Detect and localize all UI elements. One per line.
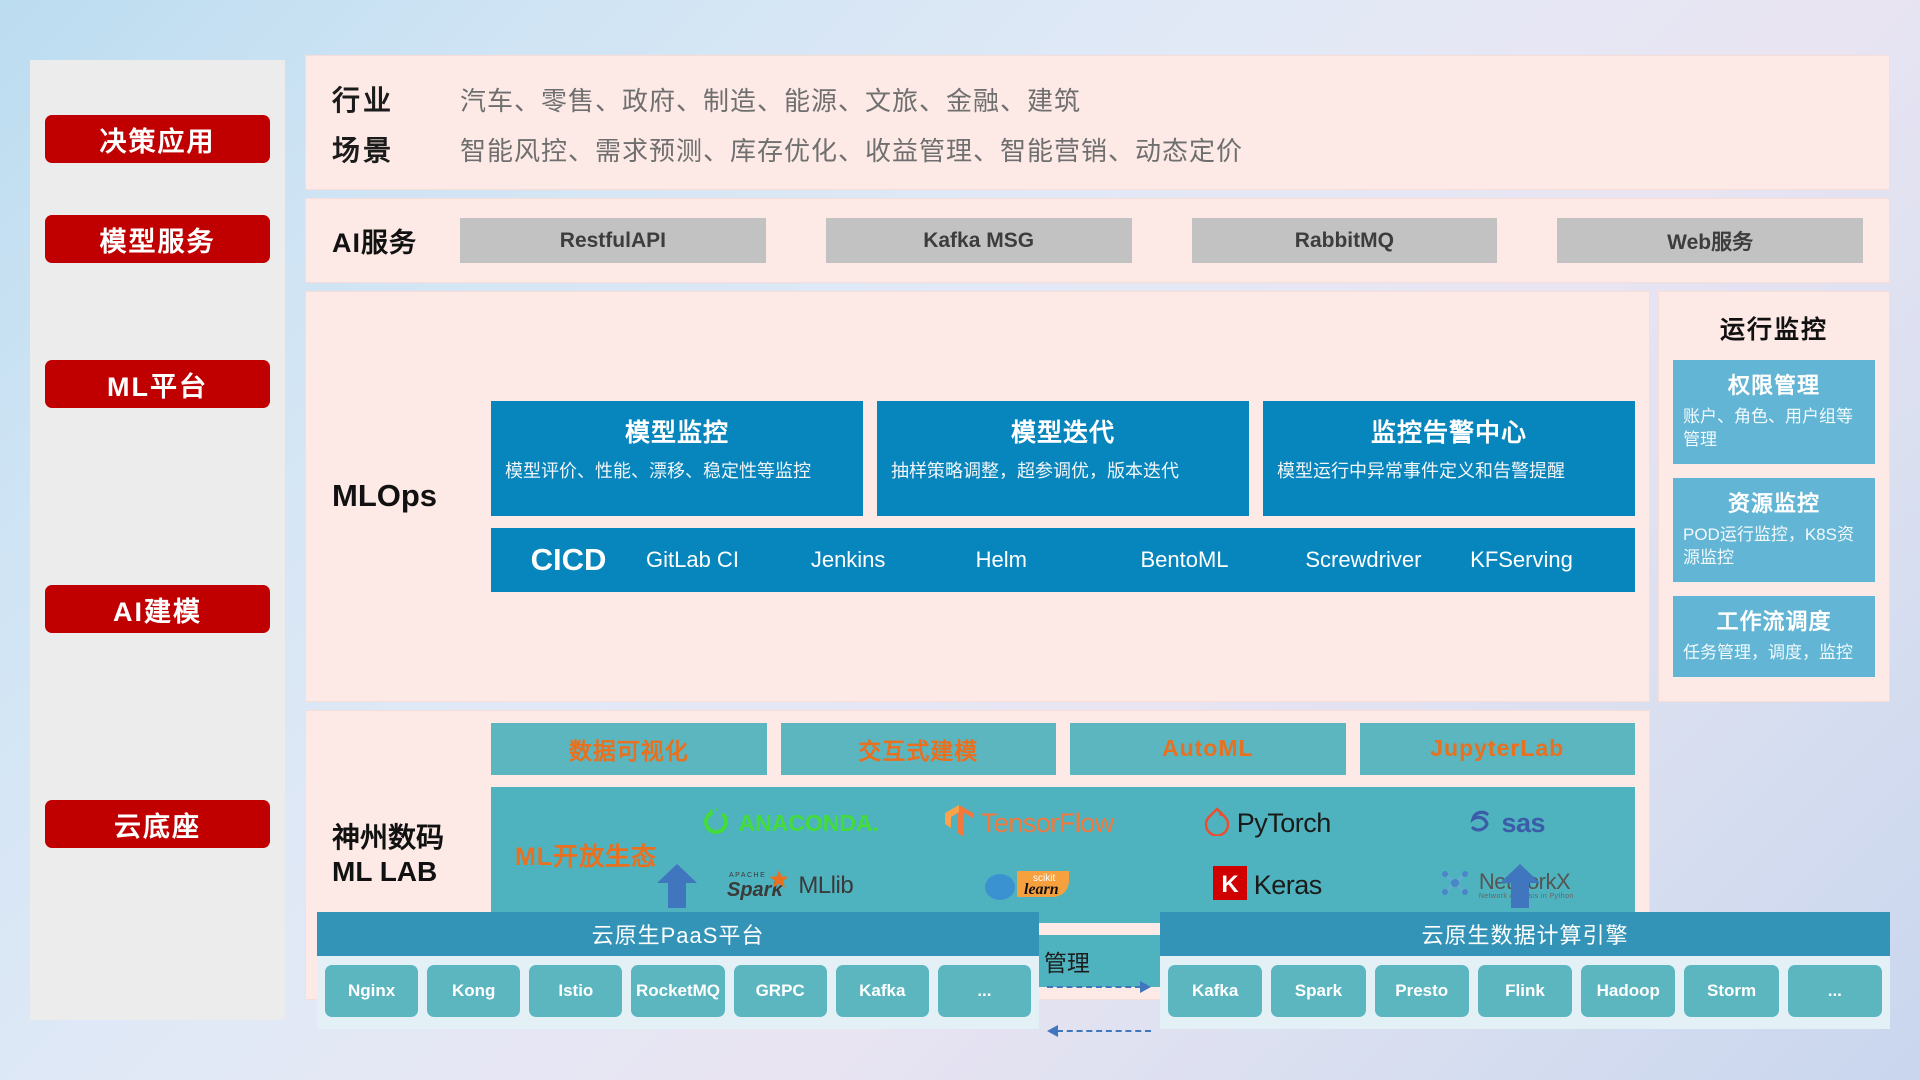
cloud-chip-nginx[interactable]: Nginx — [325, 965, 418, 1017]
ml-lab-tool-automl[interactable]: AutoML — [1070, 723, 1346, 775]
cicd-item-list: GitLab CI Jenkins Helm BentoML Screwdriv… — [646, 547, 1635, 572]
pytorch-icon — [1204, 806, 1230, 841]
logo-anaconda: ANACONDA. — [701, 806, 879, 841]
ml-lab-tool-jupyterlab[interactable]: JupyterLab — [1360, 723, 1636, 775]
cloud-chip-istio[interactable]: Istio — [529, 965, 622, 1017]
ml-open-ecosystem-label: ML开放生态 — [501, 837, 671, 873]
monitor-card-resource[interactable]: 资源监控 POD运行监控，K8S资源监控 — [1673, 478, 1875, 582]
cloud-chip-kafka[interactable]: Kafka — [836, 965, 929, 1017]
logo-tensorflow-text: TensorFlow — [981, 808, 1114, 839]
mlops-label: MLOps — [306, 478, 491, 514]
arrow-up-engine-icon — [1500, 864, 1540, 908]
engine-chip-more[interactable]: ... — [1788, 965, 1882, 1017]
tensorflow-icon — [944, 804, 974, 843]
dashed-arrow-right-icon — [1047, 986, 1151, 988]
scenario-row: 场景 智能风控、需求预测、库存优化、收益管理、智能营销、动态定价 — [332, 124, 1889, 174]
engine-chip-flink[interactable]: Flink — [1478, 965, 1572, 1017]
cloud-paas-group: 云原生PaaS平台 Nginx Kong Istio RocketMQ GRPC… — [317, 912, 1039, 1029]
engine-chip-spark[interactable]: Spark — [1271, 965, 1365, 1017]
mlops-card-model-monitor[interactable]: 模型监控 模型评价、性能、漂移、稳定性等监控 — [491, 401, 863, 516]
mlops-card-list: 模型监控 模型评价、性能、漂移、稳定性等监控 模型迭代 抽样策略调整，超参调优，… — [491, 401, 1635, 516]
dashed-arrow-left-icon — [1047, 1030, 1151, 1032]
ml-lab-tool-data-visualization[interactable]: 数据可视化 — [491, 723, 767, 775]
mlops-card-desc: 抽样策略调整，超参调优，版本迭代 — [891, 459, 1235, 484]
ml-lab-label-line2: ML LAB — [332, 855, 491, 889]
stage-pill-model-service[interactable]: 模型服务 — [45, 215, 270, 263]
logo-anaconda-text: ANACONDA. — [738, 810, 879, 837]
mlops-card-alert-center[interactable]: 监控告警中心 模型运行中异常事件定义和告警提醒 — [1263, 401, 1635, 516]
cloud-engine-chips: Kafka Spark Presto Flink Hadoop Storm ..… — [1160, 956, 1890, 1029]
cicd-item-screwdriver[interactable]: Screwdriver — [1305, 547, 1470, 572]
monitor-card-desc: 账户、角色、用户组等管理 — [1683, 406, 1865, 452]
runtime-monitoring-panel: 运行监控 权限管理 账户、角色、用户组等管理 资源监控 POD运行监控，K8S资… — [1658, 291, 1890, 702]
cicd-item-kfserving[interactable]: KFServing — [1470, 547, 1635, 572]
anaconda-icon — [701, 806, 731, 841]
architecture-main: 行业 汽车、零售、政府、制造、能源、文旅、金融、建筑 场景 智能风控、需求预测、… — [305, 55, 1890, 1000]
logo-sas-text: sas — [1501, 808, 1545, 839]
scenario-values: 智能风控、需求预测、库存优化、收益管理、智能营销、动态定价 — [460, 131, 1243, 168]
cicd-item-bentoml[interactable]: BentoML — [1140, 547, 1305, 572]
ai-service-chip-restfulapi[interactable]: RestfulAPI — [460, 218, 766, 263]
ml-lab-label-line1: 神州数码 — [332, 821, 491, 855]
cicd-bar: CICD GitLab CI Jenkins Helm BentoML Scre… — [491, 528, 1635, 592]
ai-service-chips: RestfulAPI Kafka MSG RabbitMQ Web服务 — [460, 218, 1889, 263]
cloud-chip-kong[interactable]: Kong — [427, 965, 520, 1017]
mlops-card-desc: 模型运行中异常事件定义和告警提醒 — [1277, 459, 1621, 484]
mlops-card-desc: 模型评价、性能、漂移、稳定性等监控 — [505, 459, 849, 484]
stage-pill-ml-platform[interactable]: ML平台 — [45, 360, 270, 408]
cloud-engine-title: 云原生数据计算引擎 — [1160, 912, 1890, 956]
monitor-card-title: 资源监控 — [1683, 486, 1865, 518]
monitor-card-title: 工作流调度 — [1683, 604, 1865, 636]
cicd-item-jenkins[interactable]: Jenkins — [811, 547, 976, 572]
arrow-up-paas-icon — [657, 864, 697, 908]
decision-application-band: 行业 汽车、零售、政府、制造、能源、文旅、金融、建筑 场景 智能风控、需求预测、… — [305, 55, 1890, 190]
industry-values: 汽车、零售、政府、制造、能源、文旅、金融、建筑 — [460, 81, 1081, 118]
runtime-monitoring-title: 运行监控 — [1673, 310, 1875, 346]
logo-pytorch: PyTorch — [1204, 806, 1331, 841]
cicd-label: CICD — [491, 542, 646, 578]
monitor-card-permission[interactable]: 权限管理 账户、角色、用户组等管理 — [1673, 360, 1875, 464]
stage-rail: 决策应用 模型服务 ML平台 AI建模 云底座 — [30, 60, 285, 1020]
mlops-band: MLOps 模型监控 模型评价、性能、漂移、稳定性等监控 模型迭代 抽样策略调整… — [305, 291, 1650, 702]
ai-service-chip-rabbitmq[interactable]: RabbitMQ — [1192, 218, 1498, 263]
mlops-card-title: 模型迭代 — [891, 413, 1235, 449]
ai-service-chip-kafka-msg[interactable]: Kafka MSG — [826, 218, 1132, 263]
cloud-paas-chips: Nginx Kong Istio RocketMQ GRPC Kafka ... — [317, 956, 1039, 1029]
stage-pill-cloud-base[interactable]: 云底座 — [45, 800, 270, 848]
cicd-item-gitlab-ci[interactable]: GitLab CI — [646, 547, 811, 572]
engine-chip-presto[interactable]: Presto — [1375, 965, 1469, 1017]
sas-icon — [1466, 807, 1494, 840]
cloud-foundation-zone: 云原生PaaS平台 Nginx Kong Istio RocketMQ GRPC… — [305, 890, 1890, 1040]
ai-service-band: AI服务 RestfulAPI Kafka MSG RabbitMQ Web服务 — [305, 198, 1890, 283]
mlops-card-model-iteration[interactable]: 模型迭代 抽样策略调整，超参调优，版本迭代 — [877, 401, 1249, 516]
mlops-card-title: 监控告警中心 — [1277, 413, 1621, 449]
stage-pill-decision[interactable]: 决策应用 — [45, 115, 270, 163]
logo-sas: sas — [1466, 807, 1545, 840]
ml-lab-tool-list: 数据可视化 交互式建模 AutoML JupyterLab — [491, 723, 1635, 775]
engine-chip-kafka[interactable]: Kafka — [1168, 965, 1262, 1017]
cicd-item-helm[interactable]: Helm — [976, 547, 1141, 572]
monitor-card-desc: 任务管理，调度，监控 — [1683, 642, 1865, 665]
ml-lab-label: 神州数码 ML LAB — [306, 821, 491, 889]
cloud-chip-rocketmq[interactable]: RocketMQ — [631, 965, 724, 1017]
ml-lab-tool-interactive-modeling[interactable]: 交互式建模 — [781, 723, 1057, 775]
engine-chip-storm[interactable]: Storm — [1684, 965, 1778, 1017]
scenario-label: 场景 — [332, 129, 460, 169]
logo-tensorflow: TensorFlow — [944, 804, 1114, 843]
cloud-chip-more[interactable]: ... — [938, 965, 1031, 1017]
cloud-chip-grpc[interactable]: GRPC — [734, 965, 827, 1017]
mlops-card-title: 模型监控 — [505, 413, 849, 449]
engine-chip-hadoop[interactable]: Hadoop — [1581, 965, 1675, 1017]
ai-service-chip-web[interactable]: Web服务 — [1557, 218, 1863, 263]
ml-platform-row: MLOps 模型监控 模型评价、性能、漂移、稳定性等监控 模型迭代 抽样策略调整… — [305, 291, 1890, 702]
industry-label: 行业 — [332, 79, 460, 119]
monitor-card-desc: POD运行监控，K8S资源监控 — [1683, 524, 1865, 570]
industry-row: 行业 汽车、零售、政府、制造、能源、文旅、金融、建筑 — [332, 74, 1889, 124]
cloud-engine-group: 云原生数据计算引擎 Kafka Spark Presto Flink Hadoo… — [1160, 912, 1890, 1029]
ai-service-label: AI服务 — [332, 221, 460, 260]
monitor-card-title: 权限管理 — [1683, 368, 1865, 400]
monitor-card-workflow[interactable]: 工作流调度 任务管理，调度，监控 — [1673, 596, 1875, 677]
logo-pytorch-text: PyTorch — [1237, 808, 1331, 839]
svg-text:APACHE: APACHE — [729, 872, 766, 879]
cloud-paas-title: 云原生PaaS平台 — [317, 912, 1039, 956]
stage-pill-ai-modeling[interactable]: AI建模 — [45, 585, 270, 633]
